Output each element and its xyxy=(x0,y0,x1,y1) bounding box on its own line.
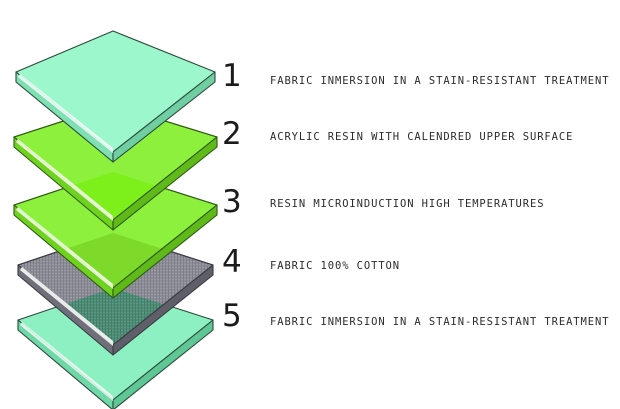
layer-number-5: 5 xyxy=(222,301,256,332)
exploded-layer-diagram: 1 FABRIC INMERSION IN A STAIN-RESISTANT … xyxy=(0,0,620,409)
layer-number-3: 3 xyxy=(222,187,256,218)
layer-caption-4: FABRIC 100% COTTON xyxy=(270,261,400,272)
layer-caption-3: RESIN MICROINDUCTION HIGH TEMPERATURES xyxy=(270,199,544,210)
layer-caption-2: ACRYLIC RESIN WITH CALENDRED UPPER SURFA… xyxy=(270,132,573,143)
layer-number-4: 4 xyxy=(222,247,256,278)
layer-number-1: 1 xyxy=(222,61,256,92)
layer-caption-5: FABRIC INMERSION IN A STAIN-RESISTANT TR… xyxy=(270,317,609,328)
layer-caption-1: FABRIC INMERSION IN A STAIN-RESISTANT TR… xyxy=(270,76,609,87)
layer-stack-graphic xyxy=(0,0,230,409)
layer-number-2: 2 xyxy=(222,119,256,150)
